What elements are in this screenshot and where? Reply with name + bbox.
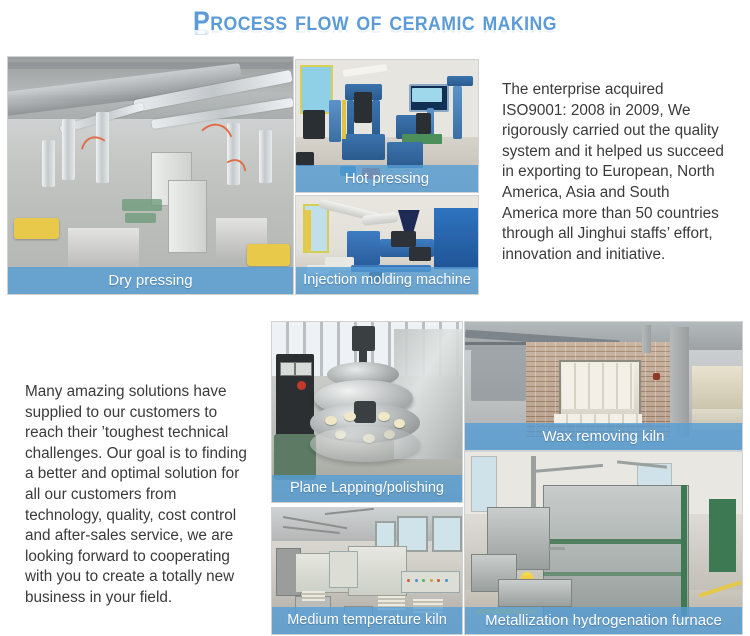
photo-plane-lapping-polishing[interactable]: Plane Lapping/polishing xyxy=(272,322,462,502)
page-root: Process flow of ceramic making Process f… xyxy=(0,0,750,636)
photo-hot-pressing[interactable]: Hot pressing xyxy=(296,60,478,192)
photo-caption-injection-molding-machine: Injection molding machine xyxy=(296,267,478,294)
photo-caption-metallization-hydrogenation-furnace: Metallization hydrogenation furnace xyxy=(465,607,742,634)
about-paragraph-top: The enterprise acquired ISO9001: 2008 in… xyxy=(502,80,728,265)
photo-injection-molding-machine[interactable]: Injection molding machine xyxy=(296,196,478,294)
page-title-reflection: Process flow of ceramic making xyxy=(26,26,724,35)
photo-dry-pressing-image xyxy=(8,57,293,294)
photo-medium-temperature-kiln[interactable]: Medium temperature kiln xyxy=(272,508,462,634)
photo-caption-medium-temperature-kiln: Medium temperature kiln xyxy=(272,607,462,634)
photo-dry-pressing[interactable]: Dry pressing xyxy=(8,57,293,294)
page-header: Process flow of ceramic making Process f… xyxy=(0,6,750,52)
photo-wax-removing-kiln[interactable]: Wax removing kiln xyxy=(465,322,742,450)
photo-metallization-hydrogenation-furnace[interactable]: Metallization hydrogenation furnace xyxy=(465,452,742,634)
about-paragraph-bottom: Many amazing solutions have supplied to … xyxy=(25,382,247,609)
photo-caption-dry-pressing: Dry pressing xyxy=(8,267,293,294)
photo-caption-hot-pressing: Hot pressing xyxy=(296,165,478,192)
photo-caption-wax-removing-kiln: Wax removing kiln xyxy=(465,423,742,450)
photo-caption-plane-lapping-polishing: Plane Lapping/polishing xyxy=(272,475,462,502)
